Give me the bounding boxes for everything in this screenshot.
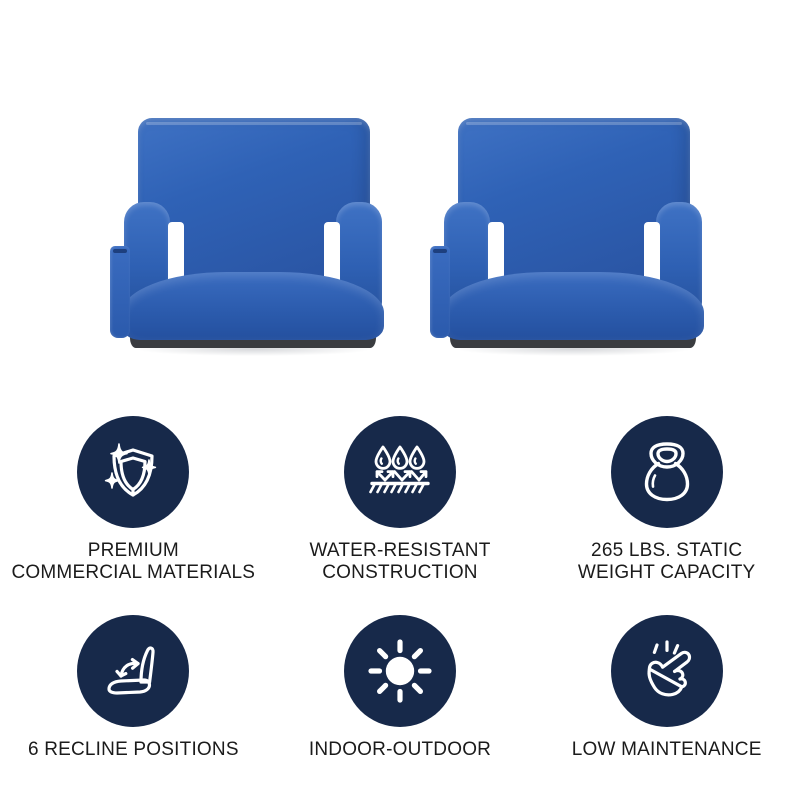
feature-badge	[77, 615, 189, 727]
feature-badge	[611, 615, 723, 727]
feature-low-maintenance: LOW MAINTENANCE	[533, 601, 800, 800]
kettlebell-icon	[632, 437, 702, 507]
product-chair-right	[428, 118, 718, 348]
feature-water-resistant-construction: WATER-RESISTANT CONSTRUCTION	[267, 402, 534, 601]
feature-recline-positions: 6 RECLINE POSITIONS	[0, 601, 267, 800]
feature-badge	[344, 416, 456, 528]
recline-seat-arrow-icon	[97, 635, 169, 707]
shield-sparkle-icon	[97, 436, 169, 508]
snapping-fingers-hand-icon	[631, 635, 703, 707]
water-droplets-repel-icon	[363, 435, 437, 509]
feature-grid: PREMIUM COMMERCIAL MATERIALS	[0, 402, 800, 800]
feature-badge	[611, 416, 723, 528]
chair-side-storage-pocket	[430, 246, 450, 338]
feature-indoor-outdoor: INDOOR-OUTDOOR	[267, 601, 534, 800]
feature-label: 6 RECLINE POSITIONS	[28, 739, 239, 761]
feature-label: PREMIUM COMMERCIAL MATERIALS	[12, 540, 256, 585]
feature-badge	[77, 416, 189, 528]
feature-label: INDOOR-OUTDOOR	[309, 739, 491, 761]
chair-side-storage-pocket	[110, 246, 130, 338]
feature-label: LOW MAINTENANCE	[572, 739, 762, 761]
product-image-area	[0, 0, 800, 400]
product-chair-left	[108, 118, 398, 348]
feature-label: WATER-RESISTANT CONSTRUCTION	[309, 540, 490, 585]
chair-seat-cushion	[122, 272, 384, 340]
sun-icon	[365, 636, 435, 706]
feature-label: 265 LBS. STATIC WEIGHT CAPACITY	[578, 540, 756, 585]
feature-badge	[344, 615, 456, 727]
chair-seat-cushion	[442, 272, 704, 340]
feature-premium-commercial-materials: PREMIUM COMMERCIAL MATERIALS	[0, 402, 267, 601]
feature-weight-capacity: 265 LBS. STATIC WEIGHT CAPACITY	[533, 402, 800, 601]
